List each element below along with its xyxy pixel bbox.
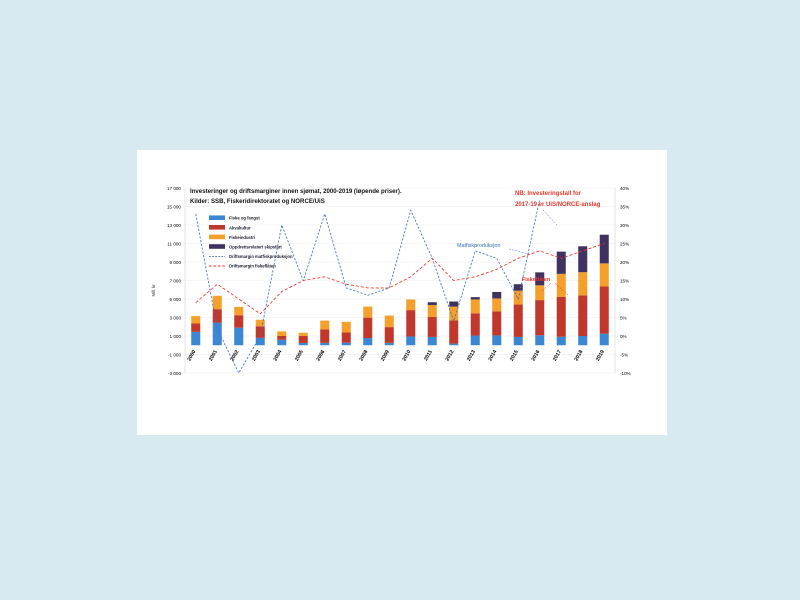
legend-swatch <box>209 225 225 230</box>
y-axis-title: Mill. kr. <box>151 283 156 296</box>
bar-segment <box>428 302 437 305</box>
bar-segment <box>299 343 308 345</box>
y-axis-left-label: -3 000 <box>168 371 181 376</box>
bar-segment <box>385 343 394 345</box>
y-axis-left-label: 3 000 <box>170 315 182 320</box>
bar-group <box>277 331 286 345</box>
bar-group <box>535 272 544 345</box>
bar-segment <box>449 320 458 343</box>
bar-segment <box>557 252 566 274</box>
bar-segment <box>191 332 200 345</box>
bar-segment <box>191 324 200 332</box>
bar-segment <box>191 316 200 323</box>
bar-segment <box>578 336 587 345</box>
y-axis-left-label: 9 000 <box>170 260 182 265</box>
bar-segment <box>514 337 523 345</box>
bar-segment <box>492 298 501 311</box>
bar-segment <box>471 299 480 313</box>
bar-group <box>578 246 587 345</box>
legend-label: Akvakultur <box>229 225 251 230</box>
bar-segment <box>514 305 523 337</box>
legend-swatch <box>209 244 225 249</box>
bar-group <box>363 307 372 346</box>
bar-segment <box>406 336 415 345</box>
bar-segment <box>320 343 329 345</box>
y-axis-right-label: 0% <box>620 334 627 339</box>
bar-segment <box>449 301 458 306</box>
y-axis-right-label: -10% <box>620 371 631 376</box>
bar-group <box>234 307 243 345</box>
legend-label: Oppdrettsrelatert skipsfart <box>229 245 282 250</box>
bar-segment <box>557 337 566 346</box>
bar-segment <box>578 272 587 295</box>
bar-segment <box>385 327 394 343</box>
y-axis-right-label: 5% <box>620 315 627 320</box>
y-axis-left-label: 13 000 <box>167 223 181 228</box>
bar-segment <box>363 338 372 345</box>
bar-segment <box>600 287 609 334</box>
bar-segment <box>385 316 394 328</box>
bar-group <box>600 235 609 346</box>
legend-label: Driftsmargin fiskeflåten <box>229 264 276 269</box>
bar-group <box>299 333 308 345</box>
legend-swatch <box>209 235 225 240</box>
y-axis-left-label: 15 000 <box>167 204 181 209</box>
y-axis-left-label: 7 000 <box>170 278 182 283</box>
bar-segment <box>428 305 437 317</box>
y-axis-right-label: 10% <box>620 297 629 302</box>
y-axis-right-label: 15% <box>620 278 629 283</box>
bar-segment <box>514 284 523 290</box>
y-axis-left-label: 1 000 <box>170 334 182 339</box>
bar-segment <box>213 296 222 309</box>
bar-segment <box>535 335 544 345</box>
bar-segment <box>256 326 265 338</box>
legend-label: Fiske og fangst <box>229 216 260 221</box>
chart-title: Investeringer og driftsmarginer innen sj… <box>190 188 402 195</box>
bar-group <box>557 252 566 346</box>
bar-group <box>342 322 351 345</box>
bar-group <box>492 292 501 345</box>
bar-group <box>191 316 200 345</box>
y-axis-right-label: 25% <box>620 241 629 246</box>
bar-group <box>449 301 458 345</box>
y-axis-left-label: -1 000 <box>168 352 181 357</box>
y-axis-right-label: 20% <box>620 260 629 265</box>
bar-segment <box>449 344 458 346</box>
bar-segment <box>234 328 243 346</box>
bar-group <box>385 316 394 346</box>
bar-segment <box>492 311 501 335</box>
bar-segment <box>342 332 351 342</box>
bar-segment <box>277 336 286 340</box>
y-axis-right-label: 40% <box>620 186 629 191</box>
bar-segment <box>600 263 609 286</box>
y-axis-left-label: 5 000 <box>170 297 182 302</box>
bar-group <box>406 299 415 345</box>
bar-segment <box>557 274 566 297</box>
y-axis-left-label: 17 000 <box>167 186 181 191</box>
annotation-fiskeflaten: Fiskeflåten <box>522 276 550 283</box>
bar-group <box>213 296 222 345</box>
legend-swatch <box>209 215 225 220</box>
bar-segment <box>449 307 458 321</box>
y-axis-right-label: 35% <box>620 204 629 209</box>
bar-segment <box>299 336 308 343</box>
bar-segment <box>342 343 351 346</box>
bar-segment <box>277 340 286 346</box>
seafood-investment-chart: 17 00015 00013 00011 0009 0007 0005 0003… <box>137 150 667 435</box>
bar-segment <box>234 307 243 315</box>
bar-group <box>320 321 329 346</box>
note-uis-line1: NB: Investeringstall for <box>515 191 582 197</box>
bar-segment <box>557 297 566 337</box>
bar-group <box>471 297 480 345</box>
bar-segment <box>492 335 501 345</box>
bar-segment <box>600 235 609 264</box>
chart-subtitle: Kilder: SSB, Fiskeridirektoratet og NORC… <box>190 198 325 205</box>
note-uis-line2: 2017-19 er UiS/NORCE-anslag <box>515 202 601 208</box>
bar-segment <box>299 333 308 336</box>
bar-segment <box>492 292 501 298</box>
bar-segment <box>363 318 372 338</box>
bar-segment <box>213 323 222 346</box>
y-axis-right-label: 30% <box>620 223 629 228</box>
bar-segment <box>363 307 372 318</box>
bar-segment <box>277 331 286 336</box>
legend-label: Fiskeindustri <box>229 235 255 240</box>
legend-label: Driftsmargin matfiskproduksjon <box>229 254 293 259</box>
bar-segment <box>234 315 243 327</box>
bar-segment <box>535 300 544 335</box>
y-axis-right-label: -5% <box>620 352 628 357</box>
annotation-matfiskproduksjon: Matfiskproduksjon <box>457 243 500 249</box>
bar-segment <box>535 285 544 300</box>
bar-segment <box>320 321 329 330</box>
bar-segment <box>406 310 415 336</box>
bar-segment <box>471 336 480 346</box>
bar-segment <box>406 299 415 310</box>
bar-segment <box>342 322 351 333</box>
bar-group <box>428 302 437 345</box>
y-axis-left-label: 11 000 <box>167 241 181 246</box>
bar-segment <box>578 295 587 336</box>
bar-segment <box>320 329 329 342</box>
bar-segment <box>471 297 480 299</box>
bar-segment <box>428 317 437 337</box>
chart-area: 17 00015 00013 00011 0009 0007 0005 0003… <box>137 150 667 435</box>
bar-segment <box>471 313 480 335</box>
bar-segment <box>428 337 437 345</box>
bar-segment <box>600 334 609 346</box>
slide-canvas: 17 00015 00013 00011 0009 0007 0005 0003… <box>137 150 667 435</box>
